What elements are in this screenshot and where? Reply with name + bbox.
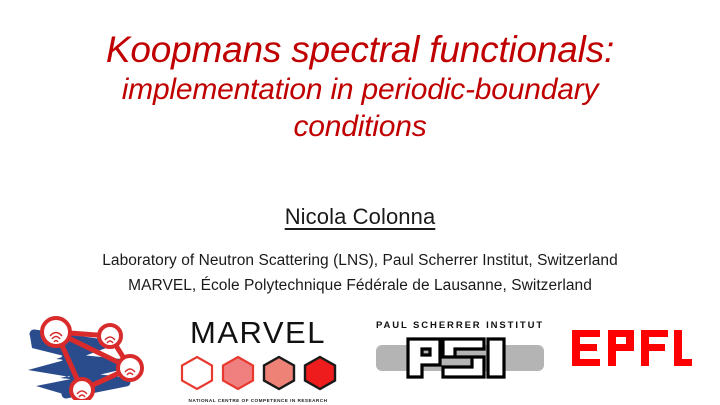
slide-title: Koopmans spectral functionals: implement…	[0, 30, 720, 145]
marvel-hexagon-1-icon	[179, 355, 215, 391]
title-slide: Koopmans spectral functionals: implement…	[0, 0, 720, 405]
epfl-wordmark-mark	[570, 312, 698, 373]
psi-wordmark: PAUL SCHERRER INSTITUT	[372, 312, 548, 331]
marvel-hexagons	[172, 355, 344, 391]
epfl-wordmark-text: EPFL	[570, 373, 571, 374]
psi-monogram-badge	[372, 336, 548, 380]
title-line-3: conditions	[0, 109, 720, 146]
marvel-hexagon-2-icon	[220, 355, 256, 391]
marvel-hexagon-3-icon	[261, 355, 297, 391]
psi-network-logo	[26, 312, 152, 400]
marvel-subtitle: NATIONAL CENTRE OF COMPETENCE IN RESEARC…	[170, 398, 345, 403]
paul-scherrer-institut-logo: PAUL SCHERRER INSTITUT	[372, 312, 548, 400]
affiliation-line-2: MARVEL, École Polytechnique Fédérale de …	[0, 277, 720, 295]
marvel-wordmark: MARVEL	[172, 312, 344, 348]
psi-network-logo-icon	[26, 312, 152, 400]
logo-row: MARVEL NATIONAL CENTRE OF COMPETENCE IN …	[0, 312, 720, 402]
affiliation-line-1: Laboratory of Neutron Scattering (LNS), …	[0, 252, 720, 270]
title-line-1: Koopmans spectral functionals:	[0, 30, 720, 69]
author-name: Nicola Colonna	[0, 204, 720, 230]
epfl-logo: EPFL	[570, 312, 698, 400]
author-block: Nicola Colonna Laboratory of Neutron Sca…	[0, 204, 720, 295]
marvel-hexagon-4-icon	[302, 355, 338, 391]
marvel-logo: MARVEL NATIONAL CENTRE OF COMPETENCE IN …	[172, 312, 344, 400]
psi-monogram-icon	[372, 336, 548, 380]
epfl-wordmark-icon	[570, 328, 694, 368]
title-line-2: implementation in periodic-boundary	[0, 72, 720, 109]
